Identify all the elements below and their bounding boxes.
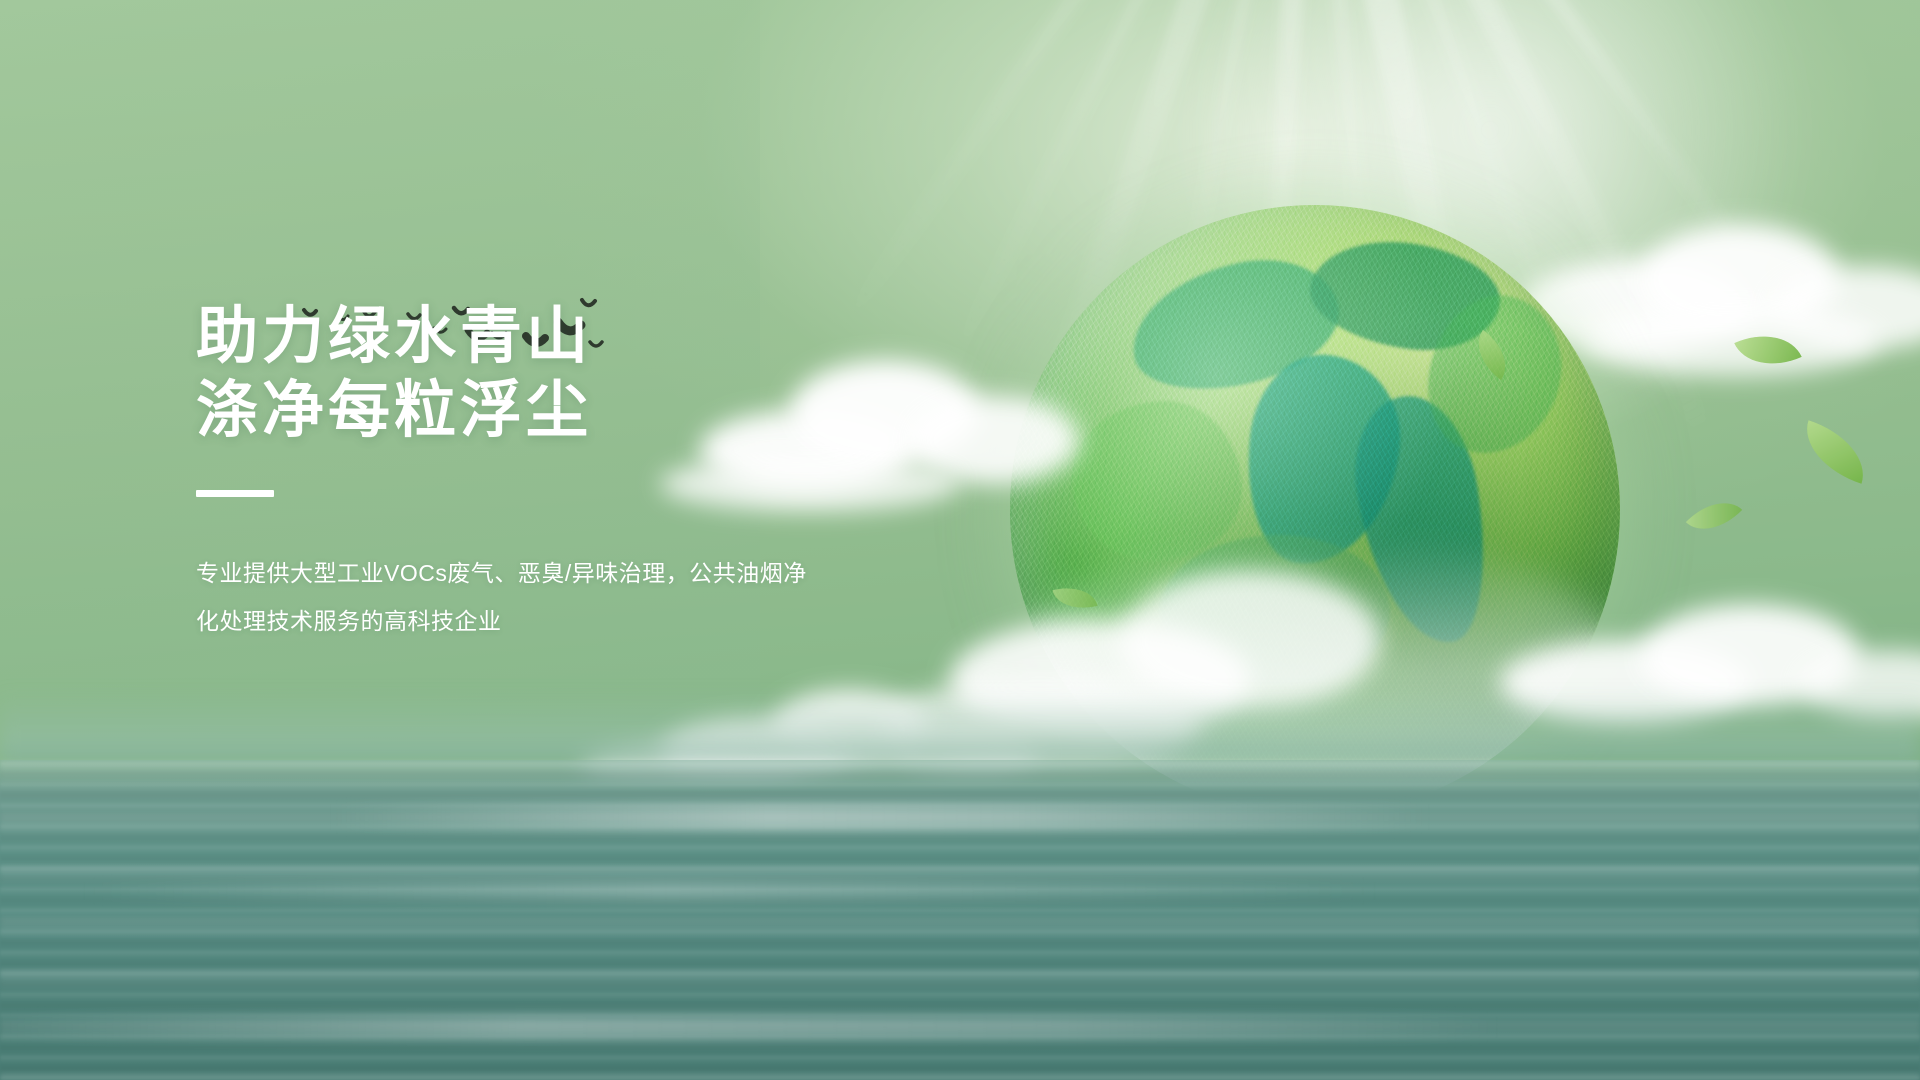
hero-banner: 助力绿水青山 涤净每粒浮尘 专业提供大型工业VOCs废气、恶臭/异味治理，公共油…	[0, 0, 1920, 1080]
headline-line-1: 助力绿水青山	[196, 302, 592, 371]
hero-copy: 助力绿水青山 涤净每粒浮尘 专业提供大型工业VOCs废气、恶臭/异味治理，公共油…	[196, 300, 916, 645]
headline-line-2: 涤净每粒浮尘	[196, 374, 916, 448]
water-shine-band	[0, 1016, 1500, 1038]
cloud-puff	[1580, 306, 1880, 376]
water-shine-band	[330, 804, 1430, 830]
cloud-puff	[1120, 570, 1380, 710]
description-line-1: 专业提供大型工业VOCs废气、恶臭/异味治理，公共油烟净	[196, 549, 856, 597]
white-divider-bar	[196, 490, 274, 497]
description-line-2: 化处理技术服务的高科技企业	[196, 597, 856, 645]
water-horizon-haze	[0, 692, 1920, 762]
hero-description: 专业提供大型工业VOCs废气、恶臭/异味治理，公共油烟净 化处理技术服务的高科技…	[196, 549, 856, 645]
water-shine-band	[80, 882, 1380, 900]
page-title: 助力绿水青山 涤净每粒浮尘	[196, 300, 916, 448]
